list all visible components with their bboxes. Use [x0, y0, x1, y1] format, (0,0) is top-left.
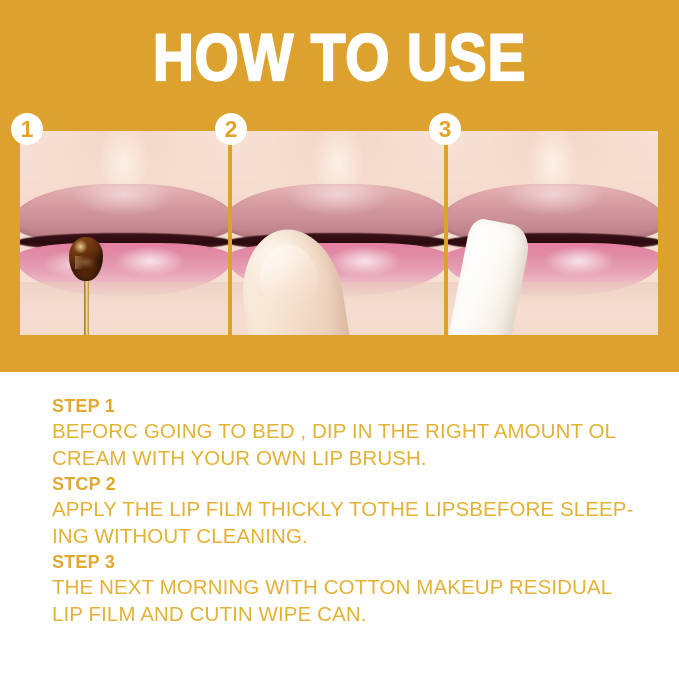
step-photo-1: [20, 131, 228, 335]
step-2-body: APPLY THE LIP FILM THICKLY TOTHE LIPSBEF…: [52, 497, 652, 550]
step-2-line-1: APPLY THE LIP FILM THICKLY TOTHE LIPSBEF…: [52, 497, 652, 524]
fingernail-icon: [255, 240, 322, 308]
step-3-line-1: THE NEXT MORNING WITH COTTON MAKEUP RESI…: [52, 575, 652, 602]
step-badge-3: 3: [429, 113, 461, 145]
step-1-line-1: BEFORC GOING TO BED , DIP IN THE RIGHT A…: [52, 419, 652, 446]
applicator-stem-icon: [84, 274, 89, 335]
step-1-line-2: CREAM WITH YOUR OWN LIP BRUSH.: [52, 446, 652, 473]
applicator-head-icon: [69, 237, 103, 281]
instructions-block: STEP 1 BEFORC GOING TO BED , DIP IN THE …: [52, 394, 652, 628]
step-2-heading: STCP 2: [52, 472, 652, 497]
step-badge-1: 1: [11, 113, 43, 145]
step-3-line-2: LIP FILM AND CUTIN WIPE CAN.: [52, 602, 652, 629]
step-1-heading: STEP 1: [52, 394, 652, 419]
step-badge-2: 2: [215, 113, 247, 145]
step-3-body: THE NEXT MORNING WITH COTTON MAKEUP RESI…: [52, 575, 652, 628]
step-3-heading: STEP 3: [52, 550, 652, 575]
step-2-line-2: ING WITHOUT CLEANING.: [52, 524, 652, 551]
step-1-body: BEFORC GOING TO BED , DIP IN THE RIGHT A…: [52, 419, 652, 472]
page-title: HOW TO USE: [48, 22, 632, 92]
chin-shadow: [20, 282, 228, 335]
how-to-use-photo-strip: [20, 131, 658, 335]
step-photo-3: [448, 131, 658, 335]
step-photo-2: [232, 131, 445, 335]
